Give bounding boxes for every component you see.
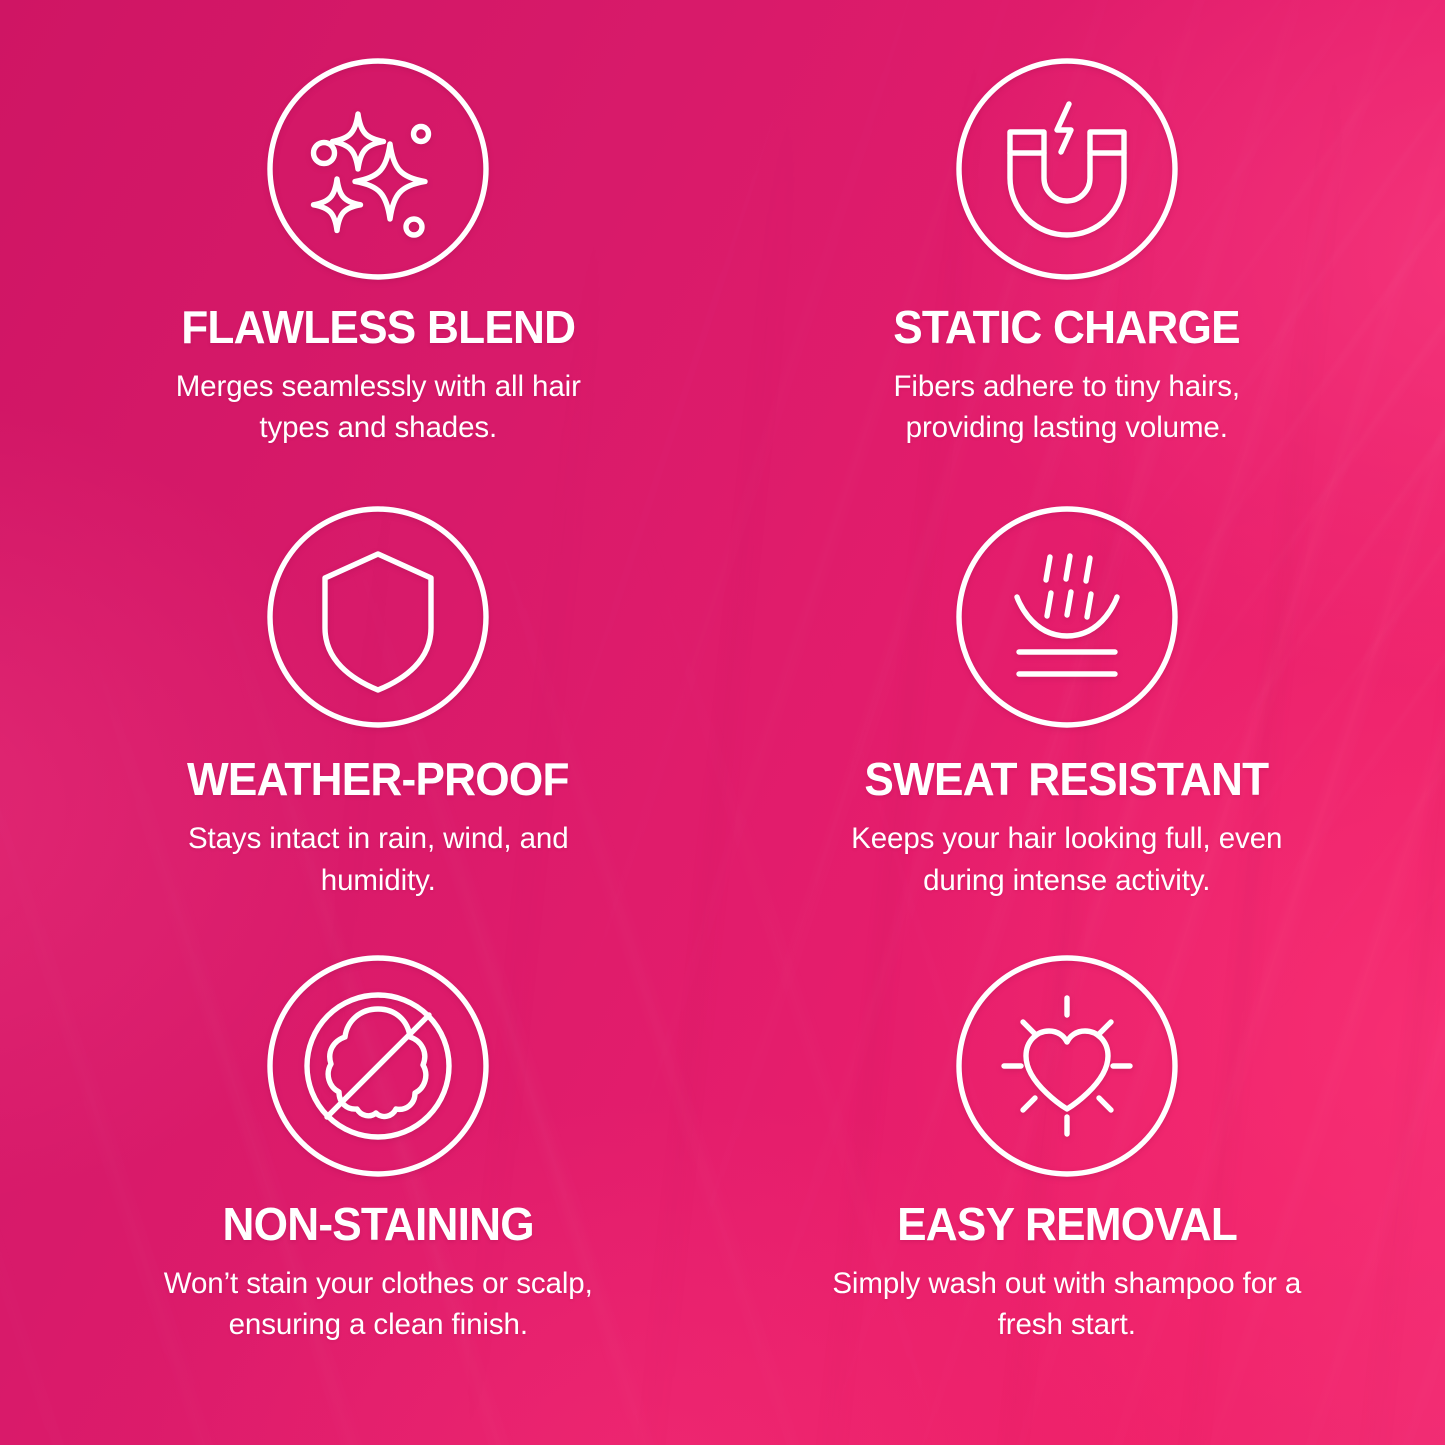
feature-description: Simply wash out with shampoo for a fresh… xyxy=(832,1263,1302,1346)
features-grid: FLAWLESS BLEND Merges seamlessly with al… xyxy=(0,0,1445,1445)
feature-description: Fibers adhere to tiny hairs, providing l… xyxy=(832,366,1302,449)
sparkle-icon xyxy=(265,56,491,282)
feature-title: EASY REMOVAL xyxy=(897,1201,1237,1247)
feature-card-weather-proof: WEATHER-PROOF Stays intact in rain, wind… xyxy=(34,504,723,952)
shield-icon xyxy=(265,504,491,730)
feature-card-easy-removal: EASY REMOVAL Simply wash out with shampo… xyxy=(723,953,1412,1401)
feature-title: SWEAT RESISTANT xyxy=(865,756,1269,802)
feature-title: WEATHER-PROOF xyxy=(187,756,569,802)
shining-heart-icon xyxy=(954,953,1180,1179)
feature-card-sweat-resistant: SWEAT RESISTANT Keeps your hair looking … xyxy=(723,504,1412,952)
feature-card-static-charge: STATIC CHARGE Fibers adhere to tiny hair… xyxy=(723,56,1412,504)
feature-title: STATIC CHARGE xyxy=(893,304,1240,350)
feature-card-flawless-blend: FLAWLESS BLEND Merges seamlessly with al… xyxy=(34,56,723,504)
magnet-icon xyxy=(954,56,1180,282)
feature-title: FLAWLESS BLEND xyxy=(181,304,575,350)
feature-grid-graphic: FLAWLESS BLEND Merges seamlessly with al… xyxy=(0,0,1445,1445)
feature-card-non-staining: NON-STAINING Won’t stain your clothes or… xyxy=(34,953,723,1401)
feature-description: Stays intact in rain, wind, and humidity… xyxy=(143,818,613,901)
feature-description: Keeps your hair looking full, even durin… xyxy=(832,818,1302,901)
feature-title: NON-STAINING xyxy=(223,1201,534,1247)
no-stain-icon xyxy=(265,953,491,1179)
water-repellent-icon xyxy=(954,504,1180,730)
feature-description: Merges seamlessly with all hair types an… xyxy=(143,366,613,449)
feature-description: Won’t stain your clothes or scalp, ensur… xyxy=(143,1263,613,1346)
